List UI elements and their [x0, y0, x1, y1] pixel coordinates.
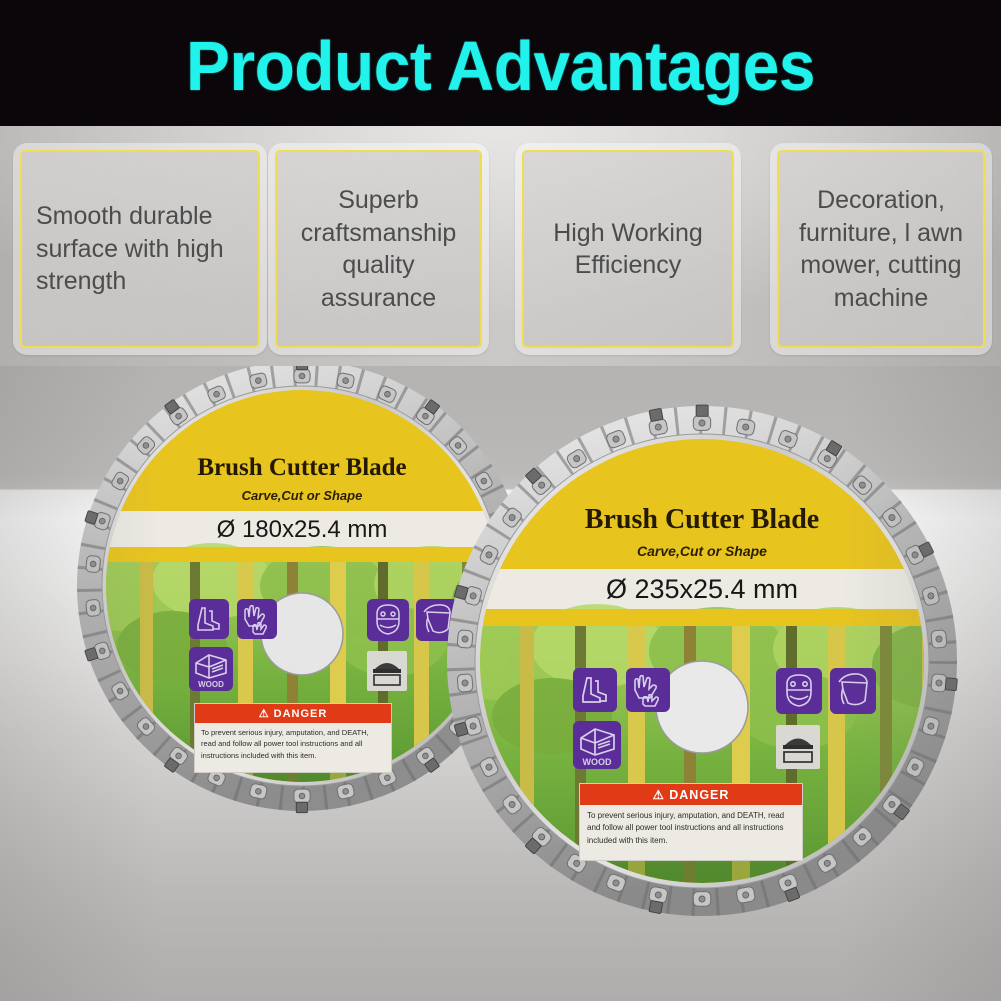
- gloves-icon: [237, 599, 277, 639]
- respirator-mask-icon: [776, 668, 822, 714]
- feature-card-applications[interactable]: Decoration, furniture, l awn mower, cutt…: [770, 143, 992, 355]
- wood-icon: WOOD: [573, 721, 621, 769]
- header-bar: Product Advantages: [0, 0, 1001, 126]
- feature-card-inner: High Working Efficiency: [522, 150, 734, 348]
- feature-text: Superb craftsmanship quality assurance: [291, 184, 466, 314]
- danger-body: To prevent serious injury, amputation, a…: [580, 805, 802, 852]
- product-photo-stage: Brush Cutter Blade Carve,Cut or Shape Ø …: [0, 366, 1001, 1001]
- blade-235-dimension: Ø 235x25.4 mm: [432, 574, 972, 605]
- danger-sticker: ⚠ DANGER To prevent serious injury, ampu…: [579, 783, 803, 861]
- danger-body: To prevent serious injury, amputation, a…: [195, 723, 391, 765]
- danger-heading: ⚠ DANGER: [195, 704, 391, 723]
- feature-card-smooth-durable-surface[interactable]: Smooth durable surface with high strengt…: [13, 143, 267, 355]
- boots-icon: [573, 668, 617, 712]
- feature-band: Smooth durable surface with high strengt…: [0, 126, 1001, 366]
- svg-text:WOOD: WOOD: [583, 757, 612, 767]
- svg-text:WOOD: WOOD: [198, 680, 224, 689]
- page-title: Product Advantages: [30, 0, 971, 126]
- blade-235-assembly[interactable]: Brush Cutter Blade Carve,Cut or Shape Ø …: [432, 391, 972, 931]
- danger-sticker: ⚠ DANGER To prevent serious injury, ampu…: [194, 703, 392, 773]
- gloves-icon: [626, 668, 670, 712]
- forest-photo: [432, 604, 972, 931]
- saw-tool-icon: [776, 725, 820, 769]
- saw-tool-icon: [367, 651, 407, 691]
- blade-235-subtitle: Carve,Cut or Shape: [432, 543, 972, 559]
- boots-icon: [189, 599, 229, 639]
- wood-icon: WOOD: [189, 647, 233, 691]
- face-shield-icon: [830, 668, 876, 714]
- blade-235-title: Brush Cutter Blade: [432, 504, 972, 536]
- feature-card-inner: Decoration, furniture, l awn mower, cutt…: [777, 150, 985, 348]
- danger-heading: ⚠ DANGER: [580, 784, 802, 805]
- feature-card-inner: Smooth durable surface with high strengt…: [20, 150, 260, 348]
- feature-text: Smooth durable surface with high strengt…: [36, 200, 244, 298]
- product-advantages-banner: Product Advantages Smooth durable surfac…: [0, 0, 1001, 1001]
- feature-card-inner: Superb craftsmanship quality assurance: [275, 150, 482, 348]
- feature-text: High Working Efficiency: [532, 217, 724, 282]
- respirator-mask-icon: [367, 599, 409, 641]
- feature-card-high-working-efficiency[interactable]: High Working Efficiency: [515, 143, 741, 355]
- feature-card-superb-craftsmanship[interactable]: Superb craftsmanship quality assurance: [268, 143, 489, 355]
- feature-text: Decoration, furniture, l awn mower, cutt…: [793, 184, 969, 314]
